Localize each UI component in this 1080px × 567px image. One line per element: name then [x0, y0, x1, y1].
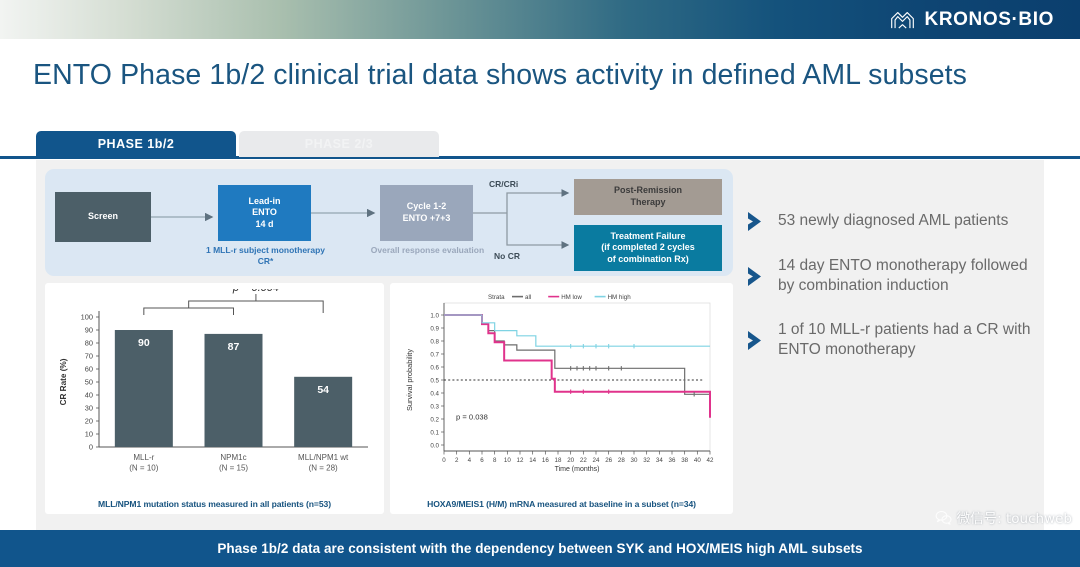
- flow-node-cycle-line-1: Cycle 1-2: [407, 201, 447, 213]
- svg-text:HM low: HM low: [561, 294, 582, 301]
- page-title: ENTO Phase 1b/2 clinical trial data show…: [33, 58, 993, 93]
- svg-text:0.2: 0.2: [430, 416, 439, 423]
- brand-logo: KRONOS·BIO: [889, 6, 1055, 33]
- flow-caption-cycle: Overall response evaluation: [370, 245, 485, 256]
- list-item-label: 14 day ENTO monotherapy followed by comb…: [778, 256, 1036, 297]
- svg-text:16: 16: [542, 457, 549, 464]
- km-chart-caption: HOXA9/MEIS1 (H/M) mRNA measured at basel…: [390, 499, 733, 509]
- svg-text:90: 90: [85, 326, 93, 335]
- chevron-right-icon: [746, 329, 767, 352]
- svg-text:p = 0.038: p = 0.038: [456, 413, 488, 422]
- svg-text:HM high: HM high: [608, 294, 632, 301]
- svg-text:22: 22: [580, 457, 587, 464]
- app-header: KRONOS·BIO: [0, 0, 1080, 39]
- tab-phase-2-3[interactable]: PHASE 2/3: [239, 131, 439, 157]
- flow-node-cycle: Cycle 1-2 ENTO +7+3: [380, 185, 473, 241]
- flow-node-lead-in-line-3: 14 d: [255, 219, 273, 231]
- chevron-right-icon: [746, 265, 767, 288]
- flow-node-treatment-failure-line-3: of combination Rx): [607, 254, 689, 266]
- flow-node-post-remission: Post-Remission Therapy: [574, 179, 722, 215]
- flow-node-treatment-failure-line-2: (if completed 2 cycles: [601, 242, 695, 254]
- svg-text:26: 26: [605, 457, 612, 464]
- kronos-bio-mark-icon: [889, 9, 916, 31]
- svg-text:40: 40: [694, 457, 701, 464]
- footer-banner: Phase 1b/2 data are consistent with the …: [0, 530, 1080, 567]
- left-edge-strip: [0, 39, 4, 530]
- flow-node-lead-in-line-2: ENTO: [252, 207, 277, 219]
- svg-text:0: 0: [89, 443, 93, 452]
- list-item-label: 53 newly diagnosed AML patients: [778, 211, 1008, 231]
- flow-node-lead-in-line-1: Lead-in: [248, 196, 280, 208]
- km-chart-card: StrataallHM lowHM high0.00.10.20.30.40.5…: [390, 283, 733, 514]
- svg-text:4: 4: [468, 457, 472, 464]
- list-item: 1 of 10 MLL-r patients had a CR with ENT…: [746, 320, 1036, 361]
- list-item: 14 day ENTO monotherapy followed by comb…: [746, 256, 1036, 297]
- svg-text:40: 40: [85, 391, 93, 400]
- svg-text:0.0: 0.0: [430, 442, 439, 449]
- flow-caption-lead-in: 1 MLL-r subject monotherapy CR*: [203, 245, 328, 267]
- svg-text:8: 8: [493, 457, 497, 464]
- flow-node-screen: Screen: [55, 192, 151, 242]
- flow-node-post-remission-line-2: Therapy: [630, 197, 665, 209]
- wechat-watermark-text: 微信号: touchweb: [957, 507, 1072, 527]
- svg-text:60: 60: [85, 365, 93, 374]
- flow-node-screen-line-1: Screen: [88, 211, 118, 223]
- svg-text:MLL-r: MLL-r: [133, 453, 154, 462]
- svg-text:90: 90: [138, 337, 150, 349]
- svg-text:0.7: 0.7: [430, 351, 439, 358]
- svg-text:0.4: 0.4: [430, 390, 439, 397]
- svg-text:30: 30: [85, 404, 93, 413]
- svg-text:54: 54: [317, 384, 329, 396]
- svg-text:10: 10: [504, 457, 511, 464]
- list-item: 53 newly diagnosed AML patients: [746, 210, 1036, 233]
- svg-text:80: 80: [85, 339, 93, 348]
- svg-text:10: 10: [85, 430, 93, 439]
- wechat-watermark: 微信号: touchweb: [935, 507, 1072, 527]
- svg-text:p = 0.004: p = 0.004: [232, 289, 279, 294]
- svg-text:0: 0: [442, 457, 446, 464]
- svg-text:30: 30: [631, 457, 638, 464]
- survival-km-chart: StrataallHM lowHM high0.00.10.20.30.40.5…: [398, 289, 725, 485]
- svg-text:(N = 28): (N = 28): [309, 464, 338, 473]
- brand-logo-text: KRONOS·BIO: [925, 9, 1055, 31]
- svg-text:1.0: 1.0: [430, 312, 439, 319]
- svg-text:6: 6: [480, 457, 484, 464]
- svg-text:12: 12: [517, 457, 524, 464]
- flow-node-cycle-line-2: ENTO +7+3: [403, 213, 451, 225]
- tab-phase-1b-2[interactable]: PHASE 1b/2: [36, 131, 236, 157]
- bar-chart-caption: MLL/NPM1 mutation status measured in all…: [45, 499, 384, 509]
- svg-text:0.3: 0.3: [430, 403, 439, 410]
- wechat-icon: [935, 510, 952, 525]
- svg-text:MLL/NPM1 wt: MLL/NPM1 wt: [298, 453, 349, 462]
- flow-branch-label-no-cr: No CR: [494, 251, 520, 261]
- bar-chart-card: 0102030405060708090100CR Rate (%)90MLL-r…: [45, 283, 384, 514]
- cr-rate-bar-chart: 0102030405060708090100CR Rate (%)90MLL-r…: [53, 289, 376, 485]
- flow-node-treatment-failure-line-1: Treatment Failure: [610, 231, 685, 243]
- chevron-right-icon: [746, 210, 767, 233]
- svg-text:38: 38: [681, 457, 688, 464]
- svg-text:28: 28: [618, 457, 625, 464]
- list-item-label: 1 of 10 MLL-r patients had a CR with ENT…: [778, 320, 1036, 361]
- svg-text:70: 70: [85, 352, 93, 361]
- svg-text:Strata: Strata: [488, 294, 505, 301]
- flow-node-lead-in: Lead-in ENTO 14 d: [218, 185, 311, 241]
- svg-text:0.5: 0.5: [430, 377, 439, 384]
- svg-text:42: 42: [707, 457, 714, 464]
- svg-text:Survival probability: Survival probability: [405, 349, 414, 411]
- svg-text:Time (months): Time (months): [555, 466, 600, 473]
- phase-tabs: PHASE 1b/2 PHASE 2/3: [36, 131, 439, 157]
- svg-text:36: 36: [669, 457, 676, 464]
- svg-text:14: 14: [529, 457, 536, 464]
- svg-text:100: 100: [81, 313, 93, 322]
- svg-text:18: 18: [555, 457, 562, 464]
- svg-text:87: 87: [228, 341, 240, 353]
- svg-text:NPM1c: NPM1c: [220, 453, 246, 462]
- svg-text:20: 20: [85, 417, 93, 426]
- svg-text:0.6: 0.6: [430, 364, 439, 371]
- svg-text:20: 20: [567, 457, 574, 464]
- footer-banner-text: Phase 1b/2 data are consistent with the …: [217, 541, 862, 556]
- content-panel: Screen Lead-in ENTO 14 d Cycle 1-2 ENTO …: [36, 160, 1044, 530]
- svg-text:34: 34: [656, 457, 663, 464]
- charts-row: 0102030405060708090100CR Rate (%)90MLL-r…: [45, 283, 733, 514]
- svg-text:0.8: 0.8: [430, 338, 439, 345]
- flow-branch-label-cr-cri: CR/CRi: [489, 179, 518, 189]
- svg-text:0.1: 0.1: [430, 429, 439, 436]
- key-points-list: 53 newly diagnosed AML patients 14 day E…: [746, 210, 1036, 361]
- svg-text:CR Rate (%): CR Rate (%): [59, 358, 68, 405]
- svg-text:all: all: [525, 294, 531, 301]
- svg-text:(N = 10): (N = 10): [129, 464, 158, 473]
- svg-text:2: 2: [455, 457, 459, 464]
- svg-text:(N = 15): (N = 15): [219, 464, 248, 473]
- trial-flow-diagram: Screen Lead-in ENTO 14 d Cycle 1-2 ENTO …: [45, 169, 733, 276]
- svg-text:0.9: 0.9: [430, 325, 439, 332]
- svg-text:24: 24: [593, 457, 600, 464]
- svg-text:32: 32: [643, 457, 650, 464]
- flow-node-post-remission-line-1: Post-Remission: [614, 185, 682, 197]
- flow-node-treatment-failure: Treatment Failure (if completed 2 cycles…: [574, 225, 722, 271]
- svg-text:50: 50: [85, 378, 93, 387]
